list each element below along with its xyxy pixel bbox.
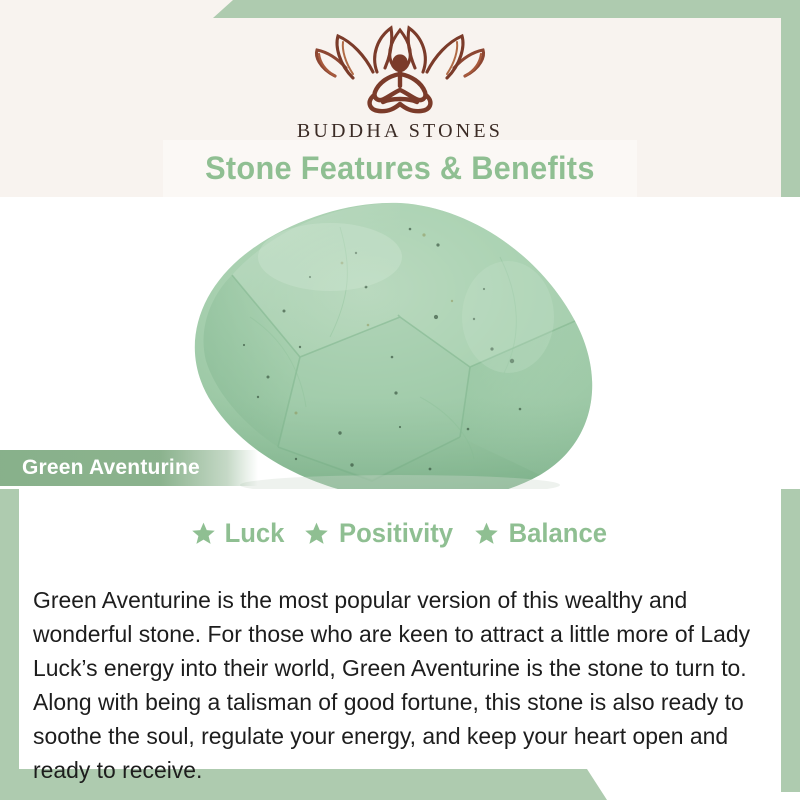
benefit-label: Balance: [508, 518, 606, 549]
benefit-label: Positivity: [339, 518, 453, 549]
product-caption: Green Aventurine: [22, 456, 200, 480]
star-icon: [304, 521, 329, 546]
product-caption-bar: Green Aventurine: [0, 450, 258, 486]
product-photo: [0, 197, 800, 489]
brand-logo-block: BUDDHA STONES: [0, 22, 800, 143]
green-aventurine-stone-image: [0, 197, 800, 489]
frame-band-top: [213, 0, 800, 18]
description-text: Green Aventurine is the most popular ver…: [33, 583, 753, 787]
benefit-item: Balance: [474, 518, 610, 549]
page-title: Stone Features & Benefits: [205, 150, 595, 187]
benefit-item: Luck: [191, 518, 286, 549]
benefit-label: Luck: [224, 518, 284, 549]
title-banner: Stone Features & Benefits: [163, 140, 637, 197]
star-icon: [474, 521, 499, 546]
benefit-item: Positivity: [304, 518, 456, 549]
infographic-page: BUDDHA STONES Stone Features & Benefits: [0, 0, 800, 800]
star-icon: [191, 521, 216, 546]
lotus-meditation-logo-icon: [305, 22, 495, 114]
benefits-row: Luck Positivity Balance: [0, 518, 800, 549]
